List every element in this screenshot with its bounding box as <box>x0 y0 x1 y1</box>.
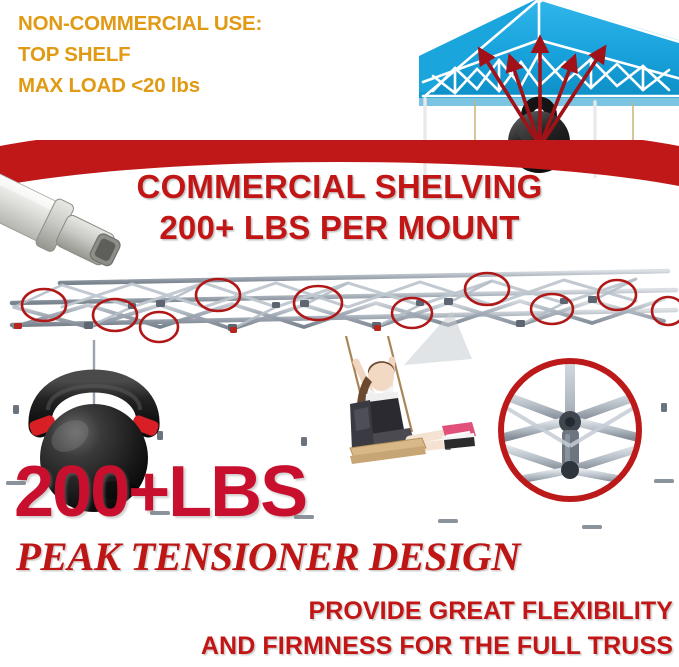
magnifier-detail-icon <box>484 342 664 520</box>
warning-line-2: TOP SHELF <box>18 39 358 70</box>
peak-tensioner-magnifier <box>484 342 664 520</box>
big-lbs-text: 200+LBS <box>14 455 414 529</box>
warning-text-block: NON-COMMERCIAL USE: TOP SHELF MAX LOAD <… <box>18 8 358 101</box>
tagline-line-1: PROVIDE GREAT FLEXIBILITY <box>0 594 673 629</box>
tagline-line-2: AND FIRMNESS FOR THE FULL TRUSS <box>0 629 673 664</box>
peak-tensioner-design-text: PEAK TENSIONER DESIGN <box>16 534 546 580</box>
headline-line-1: COMMERCIAL SHELVING <box>0 166 679 207</box>
infographic-canvas: <20lbs NON-COMMERCIAL USE: TOP SHELF MAX… <box>0 0 679 667</box>
headline-line-2: 200+ LBS PER MOUNT <box>0 207 679 248</box>
warning-line-1: NON-COMMERCIAL USE: <box>18 8 358 39</box>
warning-line-3: MAX LOAD <20 lbs <box>18 70 358 101</box>
headline-block: COMMERCIAL SHELVING 200+ LBS PER MOUNT <box>0 166 679 248</box>
tagline-block: PROVIDE GREAT FLEXIBILITY AND FIRMNESS F… <box>0 594 673 664</box>
